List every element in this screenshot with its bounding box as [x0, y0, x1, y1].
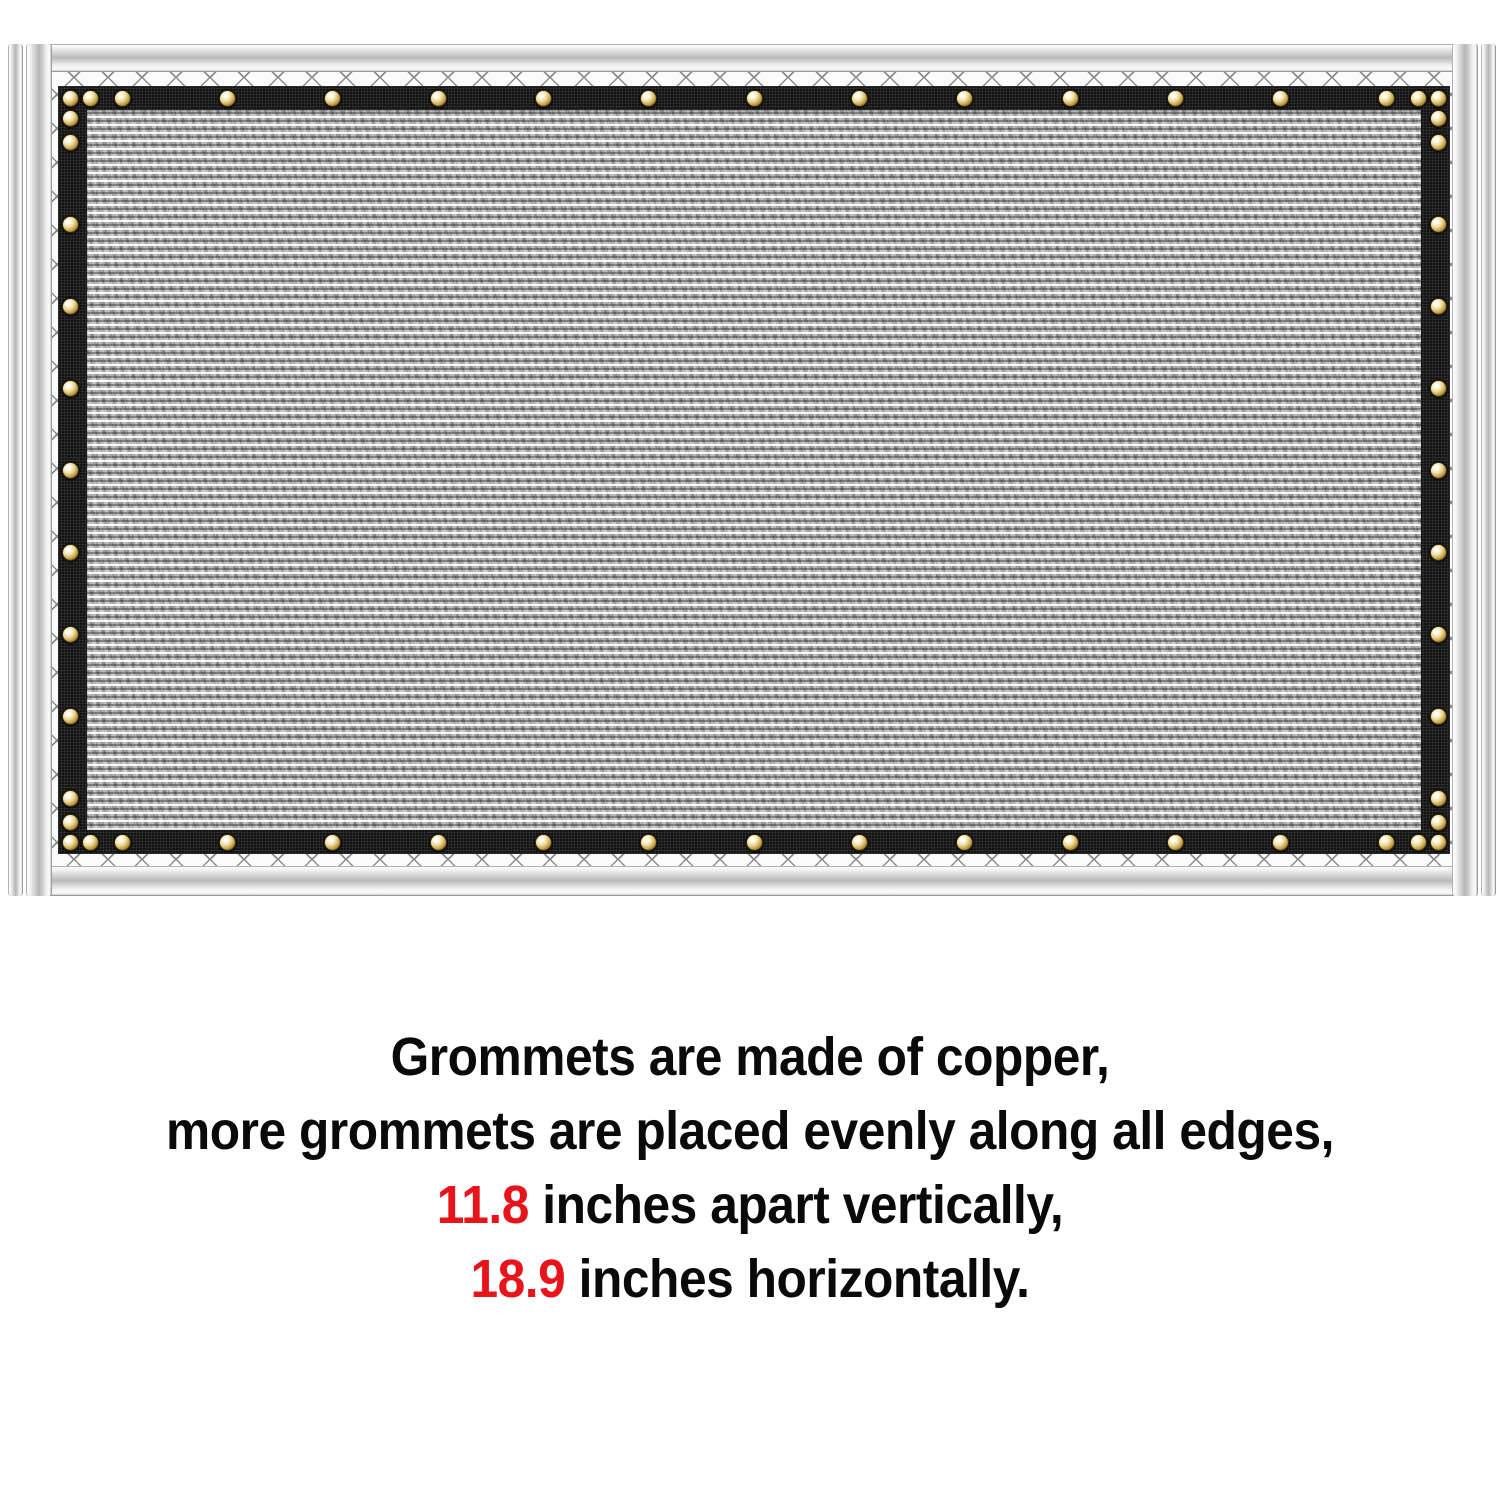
copper-grommet [535, 834, 552, 851]
copper-grommet [62, 834, 79, 851]
right-post [1452, 44, 1478, 896]
copper-grommet [62, 708, 79, 725]
left-post [26, 44, 52, 896]
copper-grommet [82, 834, 99, 851]
copper-grommet [1430, 110, 1447, 127]
copper-grommet [62, 544, 79, 561]
woven-mesh-fabric [87, 110, 1421, 830]
copper-grommet [1430, 544, 1447, 561]
left-outer-post [8, 44, 23, 896]
copper-grommet [62, 134, 79, 151]
copper-grommet [1430, 462, 1447, 479]
copper-grommet [956, 834, 973, 851]
copper-grommet [430, 90, 447, 107]
page-root: Grommets are made of copper, more gromme… [0, 0, 1500, 1500]
copper-grommet [1430, 380, 1447, 397]
copper-grommet [1430, 90, 1447, 107]
copper-grommet [640, 834, 657, 851]
copper-grommet [62, 814, 79, 831]
copper-grommet [851, 90, 868, 107]
copper-grommet [62, 90, 79, 107]
copper-grommet [1167, 90, 1184, 107]
copper-grommet [1378, 834, 1395, 851]
caption-line-4: 18.9 inches horizontally. [60, 1242, 1440, 1316]
copper-grommet [62, 462, 79, 479]
copper-grommet [1430, 298, 1447, 315]
vertical-spacing-text: inches apart vertically, [529, 1175, 1063, 1235]
copper-grommet [62, 626, 79, 643]
copper-grommet [746, 834, 763, 851]
copper-grommet [1062, 90, 1079, 107]
copper-grommet [535, 90, 552, 107]
horizontal-spacing-value: 18.9 [470, 1249, 565, 1309]
bottom-rail [26, 866, 1478, 896]
horizontal-spacing-text: inches horizontally. [565, 1249, 1029, 1309]
copper-grommet [1430, 626, 1447, 643]
copper-grommet [640, 90, 657, 107]
copper-grommet [746, 90, 763, 107]
right-outer-post [1481, 44, 1496, 896]
copper-grommet [62, 380, 79, 397]
product-photo [0, 0, 1500, 930]
copper-grommet [1430, 216, 1447, 233]
copper-grommet [1430, 834, 1447, 851]
copper-grommet [1062, 834, 1079, 851]
caption-line-2: more grommets are placed evenly along al… [60, 1094, 1440, 1168]
vertical-spacing-value: 11.8 [437, 1175, 529, 1235]
caption-line-1: Grommets are made of copper, [60, 1020, 1440, 1094]
copper-grommet [324, 834, 341, 851]
caption-line-3: 11.8 inches apart vertically, [60, 1168, 1440, 1242]
copper-grommet [1430, 814, 1447, 831]
copper-grommet [956, 90, 973, 107]
copper-grommet [219, 834, 236, 851]
copper-grommet [82, 90, 99, 107]
copper-grommet [1430, 134, 1447, 151]
copper-grommet [62, 216, 79, 233]
copper-grommet [1272, 90, 1289, 107]
copper-grommet [62, 298, 79, 315]
copper-grommet [62, 110, 79, 127]
copper-grommet [430, 834, 447, 851]
copper-grommet [1272, 834, 1289, 851]
copper-grommet [851, 834, 868, 851]
copper-grommet [1378, 90, 1395, 107]
top-rail [26, 44, 1478, 72]
copper-grommet [324, 90, 341, 107]
black-binding-border [58, 86, 1450, 854]
copper-grommet [1430, 708, 1447, 725]
copper-grommet [1430, 790, 1447, 807]
copper-grommet [114, 90, 131, 107]
copper-grommet [1410, 90, 1427, 107]
copper-grommet [1167, 834, 1184, 851]
copper-grommet [1410, 834, 1427, 851]
copper-grommet [114, 834, 131, 851]
caption-block: Grommets are made of copper, more gromme… [0, 1020, 1500, 1316]
copper-grommet [219, 90, 236, 107]
copper-grommet [62, 790, 79, 807]
